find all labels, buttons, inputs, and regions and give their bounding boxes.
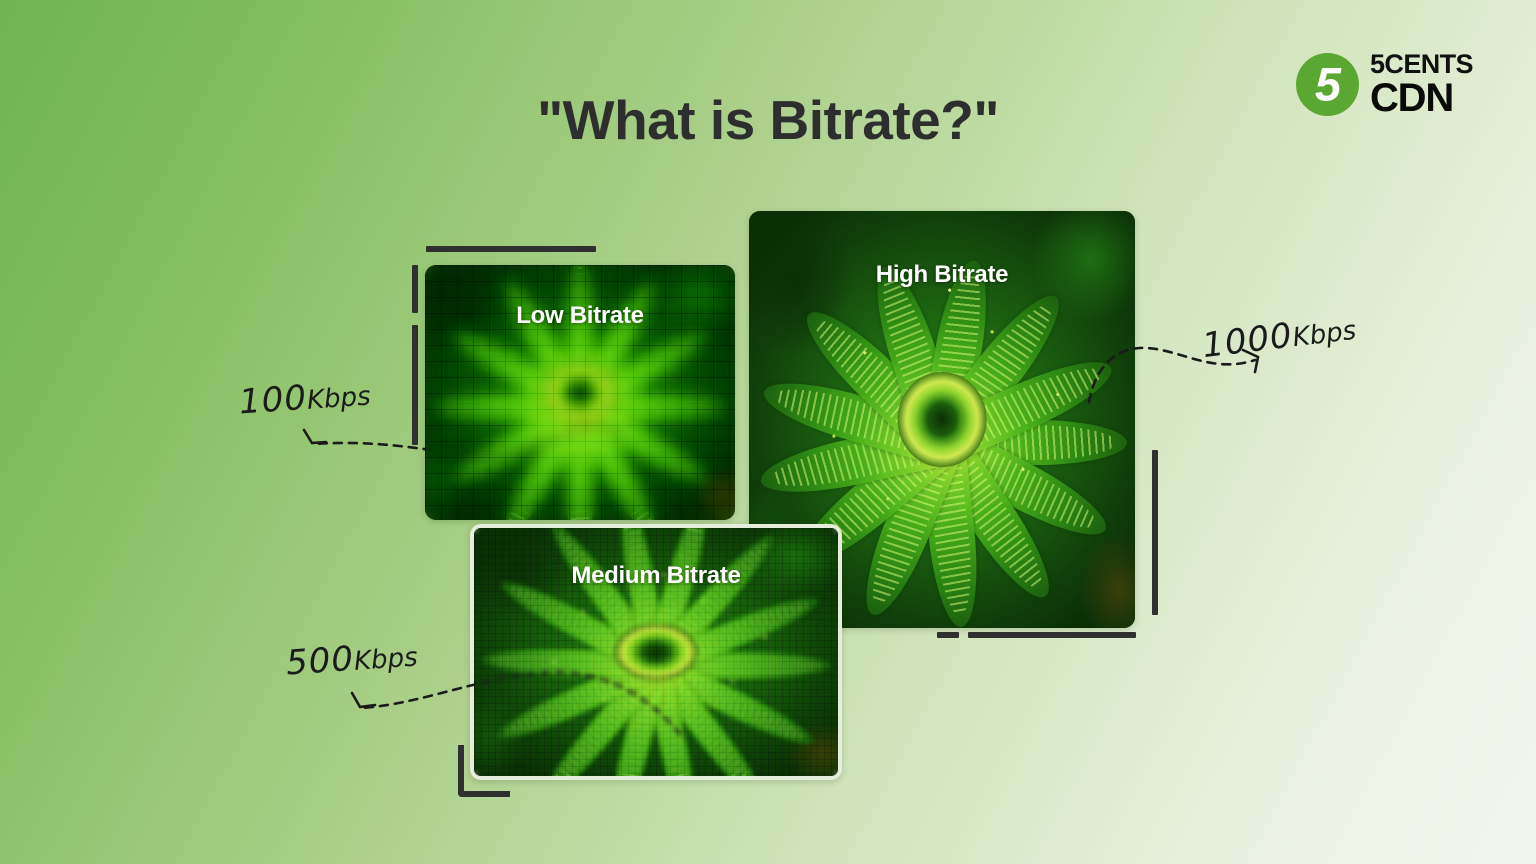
card-caption-high: High Bitrate [749,261,1135,289]
card-caption-low: Low Bitrate [425,302,735,330]
logo-digit: 5 [1296,60,1359,107]
logo-circle-icon: 5 [1296,53,1359,116]
arrow-1000kbps-icon [1085,330,1275,410]
decor-rule-top [426,246,596,252]
logo-line-1: 5CENTS [1370,52,1473,78]
image-card-medium-bitrate[interactable]: Medium Bitrate [470,524,842,780]
infographic-canvas: "What is Bitrate?" 5 5CENTS CDN [0,0,1536,864]
logo-wordmark: 5CENTS CDN [1370,52,1473,117]
decor-rule-bottom-long [968,632,1136,638]
decor-rule-right [1152,450,1158,615]
card-caption-medium: Medium Bitrate [474,562,838,590]
brand-logo[interactable]: 5 5CENTS CDN [1296,52,1473,117]
annotation-1000kbps-unit: Kbps [1291,316,1358,354]
decor-rule-bottom-dash [937,632,959,638]
logo-line-2: CDN [1370,79,1473,117]
image-card-low-bitrate[interactable]: Low Bitrate [425,265,735,520]
decor-rule-left-short [412,265,418,313]
